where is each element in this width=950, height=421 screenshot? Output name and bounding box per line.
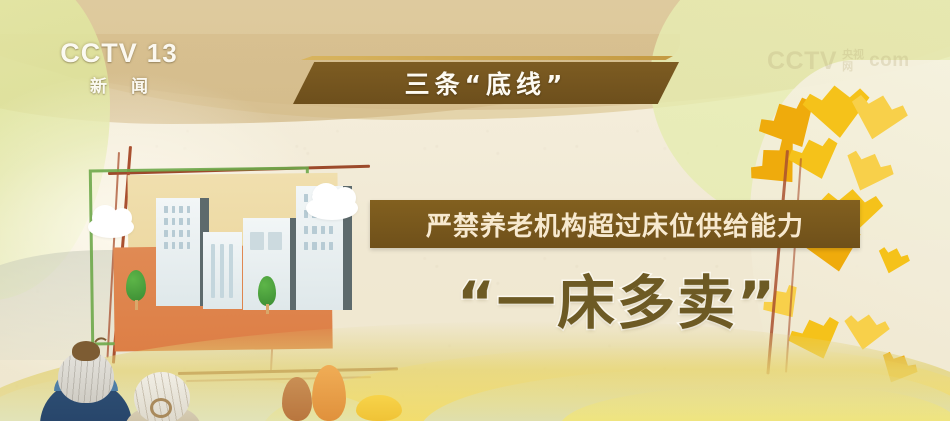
field-tree-icon [282, 377, 312, 421]
elderly-person-blue-jacket [44, 345, 126, 421]
elderly-person-white-hair [126, 372, 198, 421]
headline-text: “一床多卖” [457, 256, 777, 340]
subtitle-bar: 严禁养老机构超过床位供给能力 [370, 200, 860, 248]
cloud-icon [88, 216, 134, 238]
watermark-cn-top: 央视 [842, 48, 864, 61]
headline-block: “一床多卖” [372, 255, 862, 341]
cctv-logo-subtitle: 新 闻 [81, 72, 157, 97]
cctv-com-watermark: CCTV 央视 网 com [767, 44, 932, 78]
watermark-cn-bottom: 网 [842, 60, 853, 73]
building-left [156, 198, 200, 306]
field-tree-icon [356, 395, 402, 421]
ginkgo-leaf-icon [873, 241, 914, 278]
cctv-channel-number: 13 [147, 38, 178, 69]
subtitle-text: 严禁养老机构超过床位供给能力 [426, 206, 804, 243]
cloud-icon [306, 196, 358, 220]
tree-icon [258, 276, 276, 314]
news-lower-third-graphic: CCTV 13 新 闻 CCTV 央视 网 com 三条“底线” 严禁养老机构超… [0, 0, 950, 421]
title-banner-text: 三条“底线” [405, 65, 568, 101]
watermark-main-text: CCTV [767, 47, 837, 76]
banner-accent-line [301, 56, 673, 60]
cctv-logo-mark: CCTV [60, 38, 138, 69]
watermark-suffix: com [869, 50, 910, 72]
title-banner: 三条“底线” [293, 62, 679, 104]
tree-icon [126, 270, 146, 310]
watermark-cn-text: 央视 网 [842, 49, 864, 73]
building-window-grid [164, 206, 190, 249]
building-mid [203, 232, 242, 309]
field-tree-icon [312, 365, 346, 421]
cctv-logo-row: CCTV 13 [60, 38, 177, 69]
cctv-13-news-logo: CCTV 13 新 闻 [44, 36, 194, 98]
ginkgo-leaf-icon [836, 142, 900, 200]
